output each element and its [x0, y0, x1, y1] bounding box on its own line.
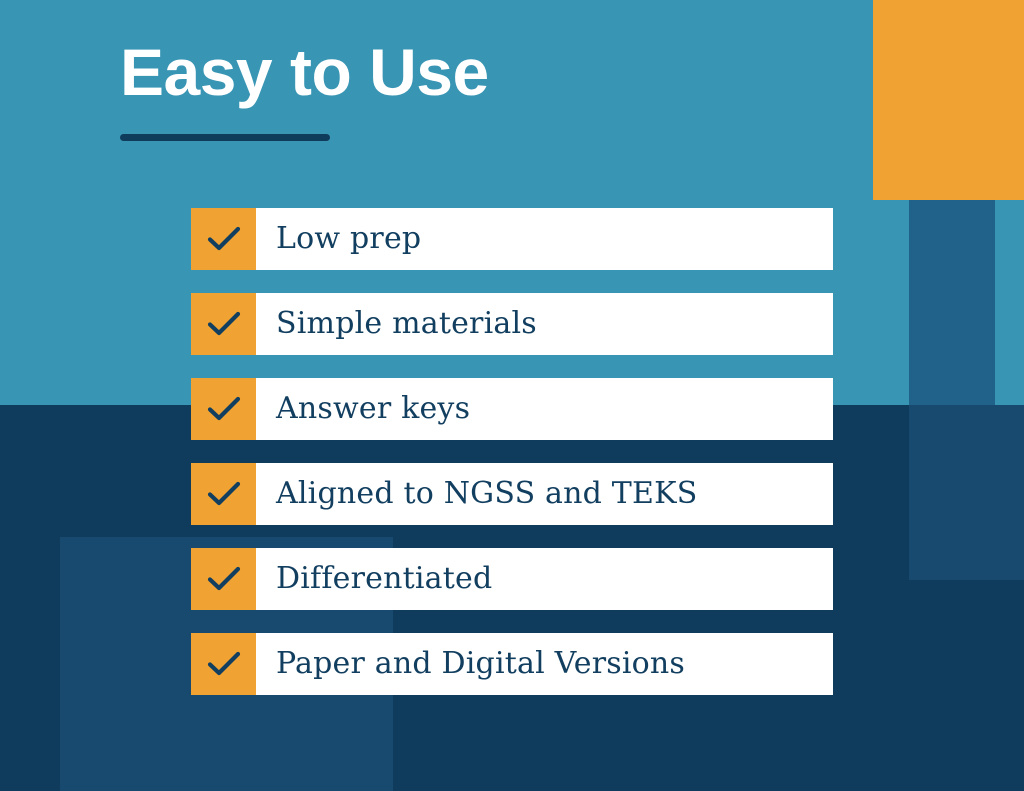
page-title: Easy to Use	[120, 34, 840, 110]
orange-block-top-right	[873, 0, 1024, 200]
list-item-label: Paper and Digital Versions	[256, 633, 833, 695]
title-underline-rule	[120, 134, 330, 141]
list-item: Simple materials	[191, 293, 833, 355]
list-item: Low prep	[191, 208, 833, 270]
list-item-label: Differentiated	[256, 548, 833, 610]
list-item: Differentiated	[191, 548, 833, 610]
navy-block-right	[909, 405, 1024, 580]
list-item-label: Low prep	[256, 208, 833, 270]
check-icon	[191, 463, 256, 525]
heading-block: Easy to Use	[120, 34, 840, 141]
list-item: Aligned to NGSS and TEKS	[191, 463, 833, 525]
blue-block-right	[909, 200, 995, 405]
list-item: Paper and Digital Versions	[191, 633, 833, 695]
check-icon	[191, 208, 256, 270]
list-item: Answer keys	[191, 378, 833, 440]
check-icon	[191, 548, 256, 610]
feature-checklist: Low prep Simple materials Answer keys	[191, 208, 833, 695]
list-item-label: Answer keys	[256, 378, 833, 440]
check-icon	[191, 293, 256, 355]
check-icon	[191, 633, 256, 695]
list-item-label: Aligned to NGSS and TEKS	[256, 463, 833, 525]
list-item-label: Simple materials	[256, 293, 833, 355]
check-icon	[191, 378, 256, 440]
slide-canvas: Easy to Use Low prep Simple materials	[0, 0, 1024, 791]
